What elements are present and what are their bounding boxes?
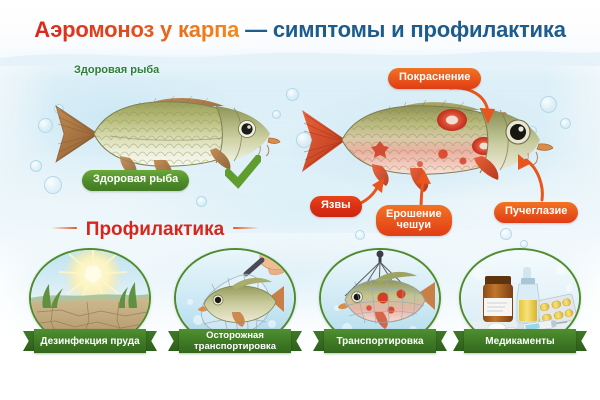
prevention-card-medication[interactable]: Медикаменты bbox=[450, 248, 590, 366]
prevention-ribbon: Медикаменты bbox=[453, 328, 587, 354]
prevention-card-careful-transport[interactable]: Осторожная транспортировка bbox=[165, 248, 305, 366]
prevention-card-label: Медикаменты bbox=[464, 329, 576, 353]
symptom-label-ulcers: Язвы bbox=[310, 196, 362, 217]
arrow-down-right-icon bbox=[448, 82, 496, 128]
symptom-label-exophthalmia: Пучеглазие bbox=[494, 202, 578, 223]
symptom-label-redness: Покраснение bbox=[388, 68, 481, 89]
symptom-label-raised-scales: Ерошение чешуи bbox=[376, 205, 452, 236]
check-mark-icon bbox=[225, 155, 261, 189]
bubble-decoration bbox=[355, 230, 365, 240]
healthy-fish-caption: Здоровая рыба bbox=[74, 64, 159, 76]
prevention-card-transport[interactable]: Транспортировка bbox=[310, 248, 450, 366]
arrow-up-left-icon bbox=[508, 150, 552, 202]
prevention-ribbon: Дезинфекция пруда bbox=[23, 328, 157, 354]
prevention-card-label-line1: Осторожная bbox=[206, 330, 264, 341]
page-title-sub: — симптомы и профилактика bbox=[245, 17, 566, 42]
bubble-decoration bbox=[520, 240, 528, 248]
wave-divider-icon bbox=[0, 44, 600, 66]
prevention-ribbon: Транспортировка bbox=[313, 328, 447, 354]
bubble-decoration bbox=[500, 228, 512, 240]
heading-dash-right-icon bbox=[233, 227, 259, 229]
infographic-poster: Аэромоноз у карпа — симптомы и профилакт… bbox=[0, 0, 600, 400]
bubble-decoration bbox=[30, 160, 42, 172]
prevention-card-list: Дезинфекция пруда bbox=[0, 248, 600, 368]
page-title: Аэромоноз у карпа — симптомы и профилакт… bbox=[0, 17, 600, 43]
heading-dash-left-icon bbox=[51, 227, 77, 229]
prevention-heading: Профилактика bbox=[0, 219, 310, 241]
prevention-card-label: Осторожная транспортировка bbox=[179, 329, 291, 353]
prevention-card-label: Дезинфекция пруда bbox=[34, 329, 146, 353]
prevention-ribbon: Осторожная транспортировка bbox=[168, 328, 302, 354]
prevention-card-pond-disinfection[interactable]: Дезинфекция пруда bbox=[20, 248, 160, 366]
page-title-main: Аэромоноз у карпа bbox=[34, 17, 239, 42]
prevention-card-label-line2: транспортировка bbox=[194, 341, 276, 352]
healthy-fish-badge: Здоровая рыба bbox=[82, 170, 189, 191]
bubble-decoration bbox=[196, 196, 207, 207]
prevention-heading-text: Профилактика bbox=[86, 219, 224, 240]
symptom-label-raised-scales-line2: чешуи bbox=[397, 219, 432, 231]
prevention-card-label: Транспортировка bbox=[324, 329, 436, 353]
